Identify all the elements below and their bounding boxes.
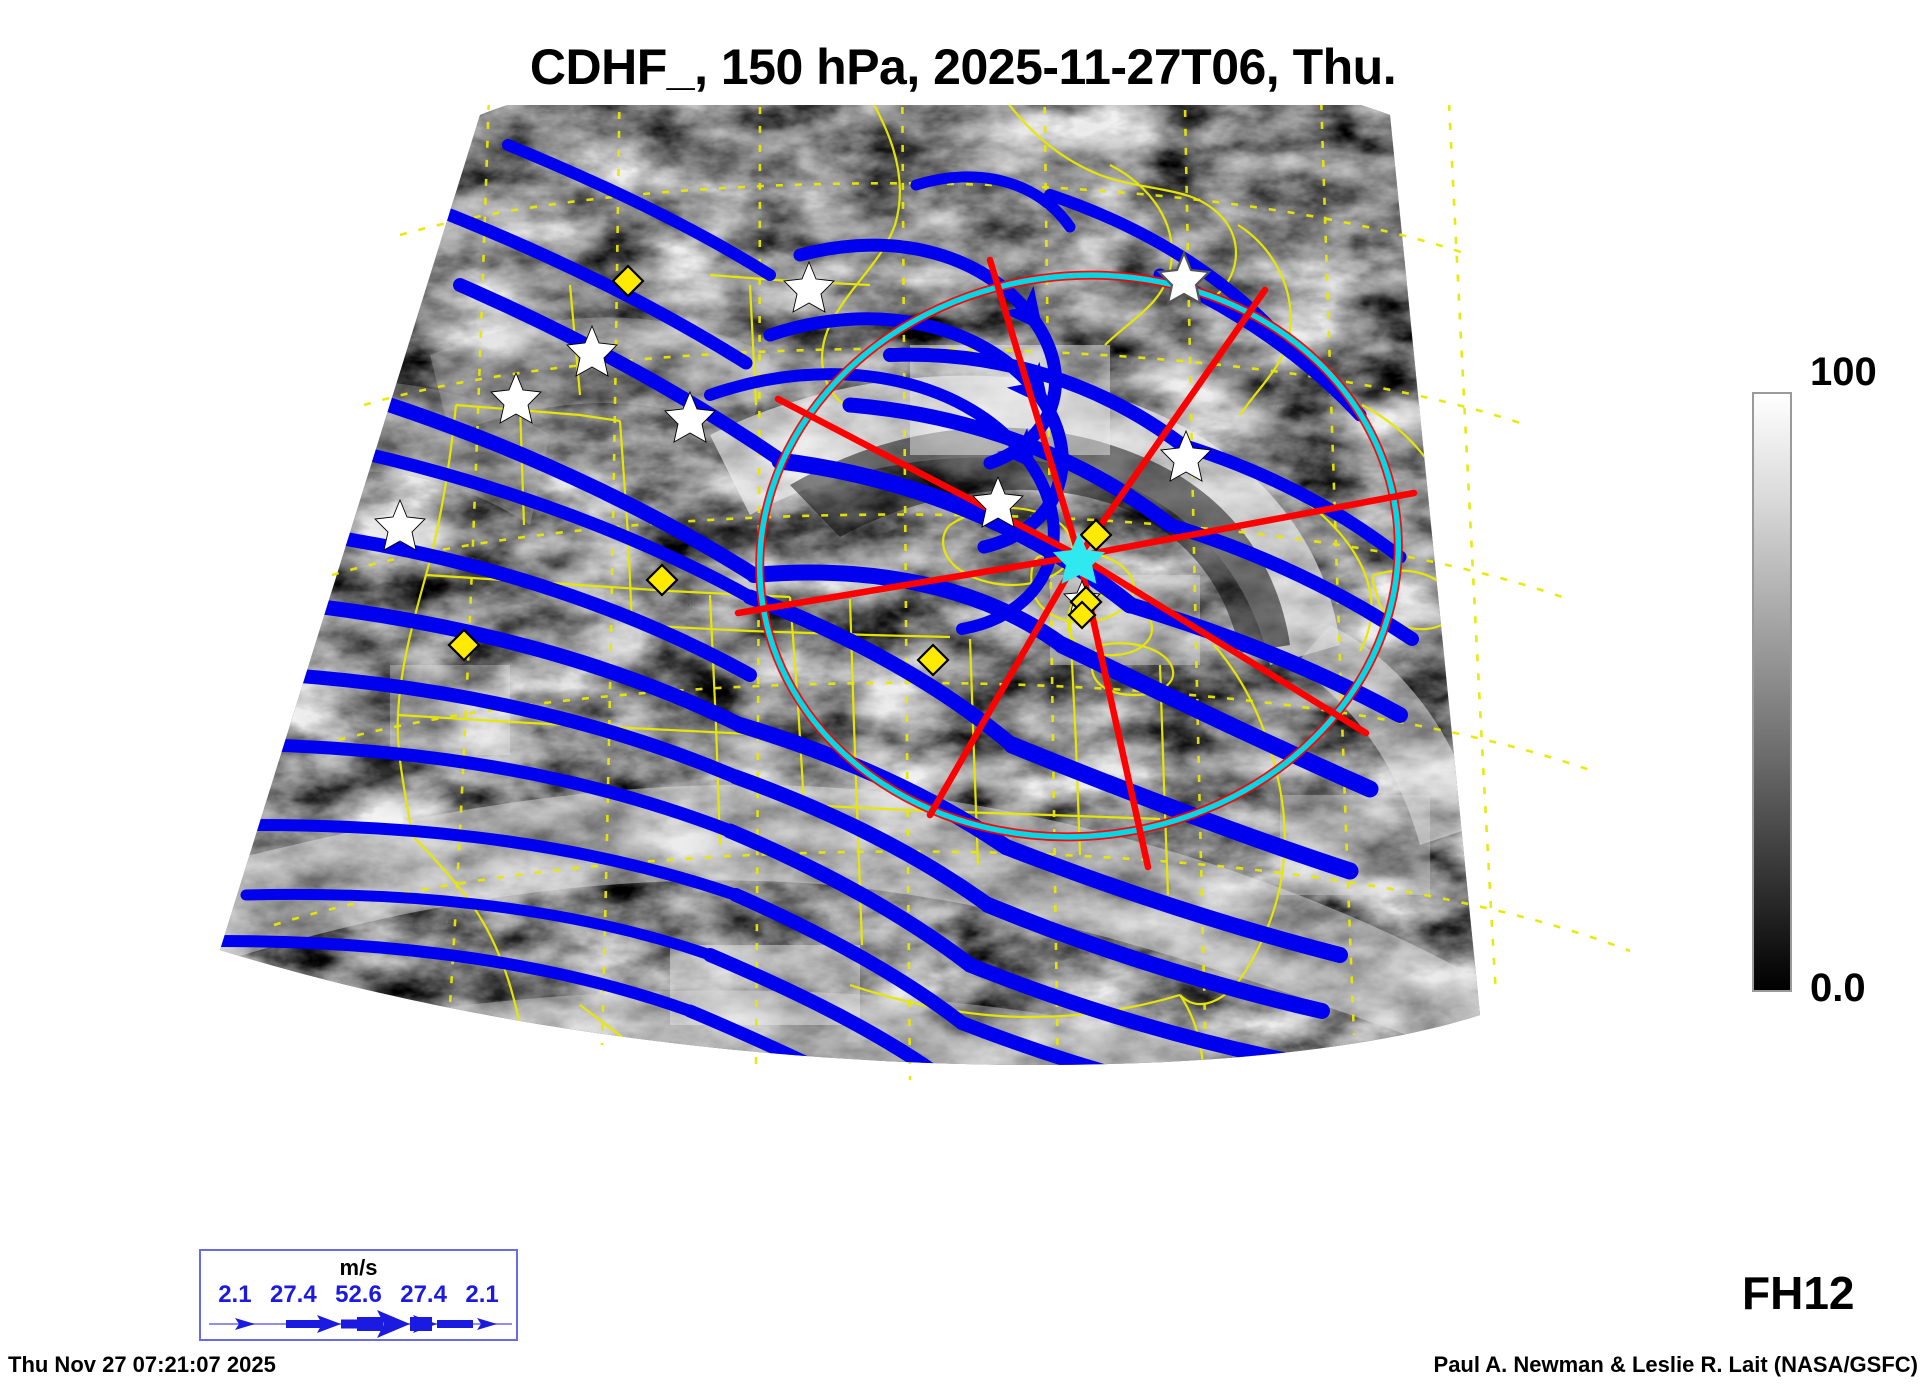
footer-credit: Paul A. Newman & Leslie R. Lait (NASA/GS…: [1434, 1352, 1918, 1378]
wind-legend-value-1: 2.1: [218, 1281, 251, 1309]
forecast-hour-label: FH12: [1742, 1266, 1854, 1320]
colorbar-gradient: [1752, 392, 1792, 992]
wind-legend-value-5: 2.1: [465, 1281, 498, 1309]
colorbar: 100 0.0: [1752, 392, 1922, 992]
shaded-field-layer: [150, 105, 1750, 1235]
footer-timestamp: Thu Nov 27 07:21:07 2025: [8, 1352, 276, 1378]
wind-legend-value-2: 27.4: [270, 1281, 317, 1309]
wind-legend-arrows: [207, 1309, 514, 1339]
colorbar-min-label: 0.0: [1810, 966, 1866, 1011]
wind-legend-value-4: 27.4: [400, 1281, 447, 1309]
wind-legend-values: 2.1 27.4 52.6 27.4 2.1: [201, 1281, 516, 1309]
wind-speed-legend: m/s 2.1 27.4 52.6 27.4 2.1: [199, 1249, 518, 1341]
map-canvas[interactable]: [150, 105, 1750, 1235]
map-panel[interactable]: [150, 105, 1750, 1235]
wind-legend-value-3: 52.6: [335, 1281, 382, 1309]
colorbar-max-label: 100: [1810, 350, 1877, 395]
wind-legend-units: m/s: [201, 1255, 516, 1281]
page-title: CDHF_, 150 hPa, 2025-11-27T06, Thu.: [0, 38, 1926, 96]
